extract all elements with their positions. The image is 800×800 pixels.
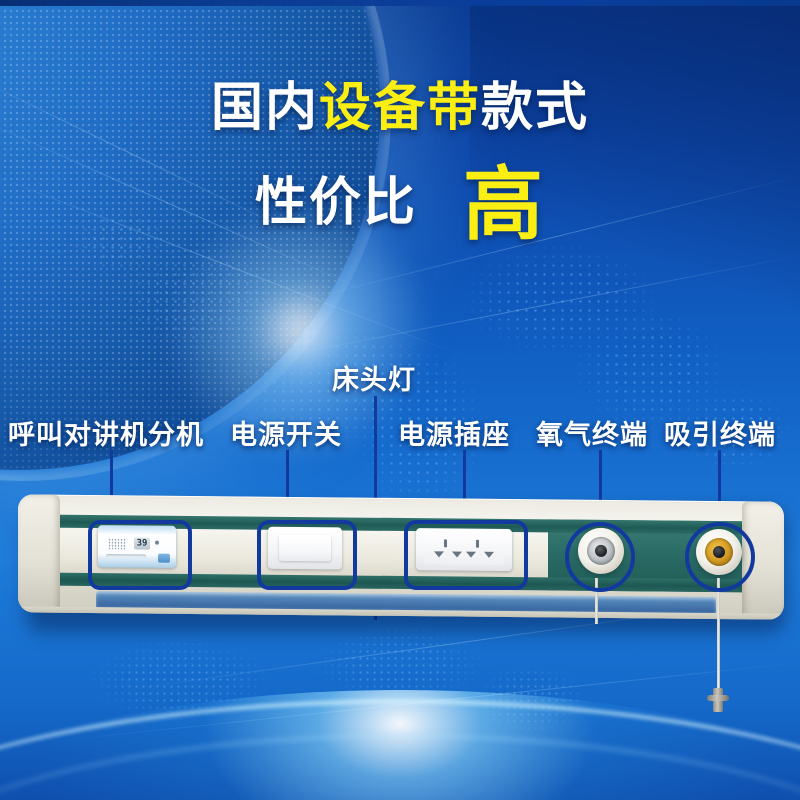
headline-line-1: 国内设备带款式 — [0, 82, 800, 134]
highlight-ring-oxygen-terminal — [565, 522, 635, 592]
callout-label-suction-terminal: 吸引终端 — [664, 413, 776, 452]
highlight-box-power-switch — [257, 520, 357, 590]
callout-label-power-socket: 电源插座 — [398, 413, 510, 452]
top-edge-strip — [0, 0, 800, 6]
headline-line1-part2: 款式 — [481, 79, 589, 137]
highlight-ring-suction-terminal — [685, 522, 755, 592]
headline-line1-highlight: 设备带 — [319, 79, 481, 137]
headline-line-2: 性价比高 — [0, 165, 800, 245]
headline-line1-part1: 国内 — [211, 79, 319, 137]
callout-label-bedside-lamp: 床头灯 — [332, 358, 416, 397]
highlight-box-nurse-call-intercom — [88, 520, 192, 590]
headline-line2-text: 性价比 — [255, 174, 417, 232]
highlight-box-power-socket — [404, 520, 528, 590]
callout-label-nurse-call-intercom: 呼叫对讲机分机 — [8, 413, 204, 452]
headline-line2-highlight: 高 — [463, 160, 545, 249]
cord-plug-connector — [713, 688, 723, 712]
panel-end-cap-left — [18, 494, 60, 612]
callout-label-power-switch: 电源开关 — [230, 413, 342, 452]
suction-terminal-cord — [717, 578, 720, 694]
product-banner: 国内设备带款式 性价比高 呼叫对讲机分机 电源开关 床头灯 电源插座 氧气终端 … — [0, 0, 800, 800]
callout-label-oxygen-terminal: 氧气终端 — [536, 413, 648, 452]
